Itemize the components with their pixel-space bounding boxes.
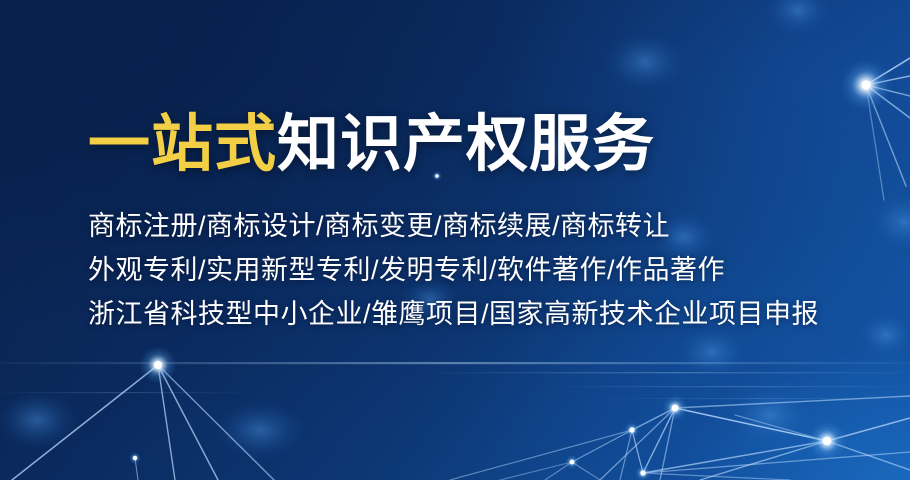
service-line-government-programs: 浙江省科技型中小企业/雏鹰项目/国家高新技术企业项目申报 bbox=[88, 292, 848, 336]
service-line-patent-copyright: 外观专利/实用新型专利/发明专利/软件著作/作品著作 bbox=[88, 248, 848, 292]
headline-accent-text: 一站式 bbox=[88, 110, 277, 179]
page-title: 一站式知识产权服务 bbox=[88, 108, 848, 182]
banner-text-block: 一站式知识产权服务 商标注册/商标设计/商标变更/商标续展/商标转让 外观专利/… bbox=[88, 108, 848, 336]
headline-plain-text: 知识产权服务 bbox=[277, 110, 655, 179]
promo-banner: 一站式知识产权服务 商标注册/商标设计/商标变更/商标续展/商标转让 外观专利/… bbox=[0, 0, 910, 480]
service-line-trademark: 商标注册/商标设计/商标变更/商标续展/商标转让 bbox=[88, 204, 848, 248]
service-list: 商标注册/商标设计/商标变更/商标续展/商标转让 外观专利/实用新型专利/发明专… bbox=[88, 204, 848, 336]
